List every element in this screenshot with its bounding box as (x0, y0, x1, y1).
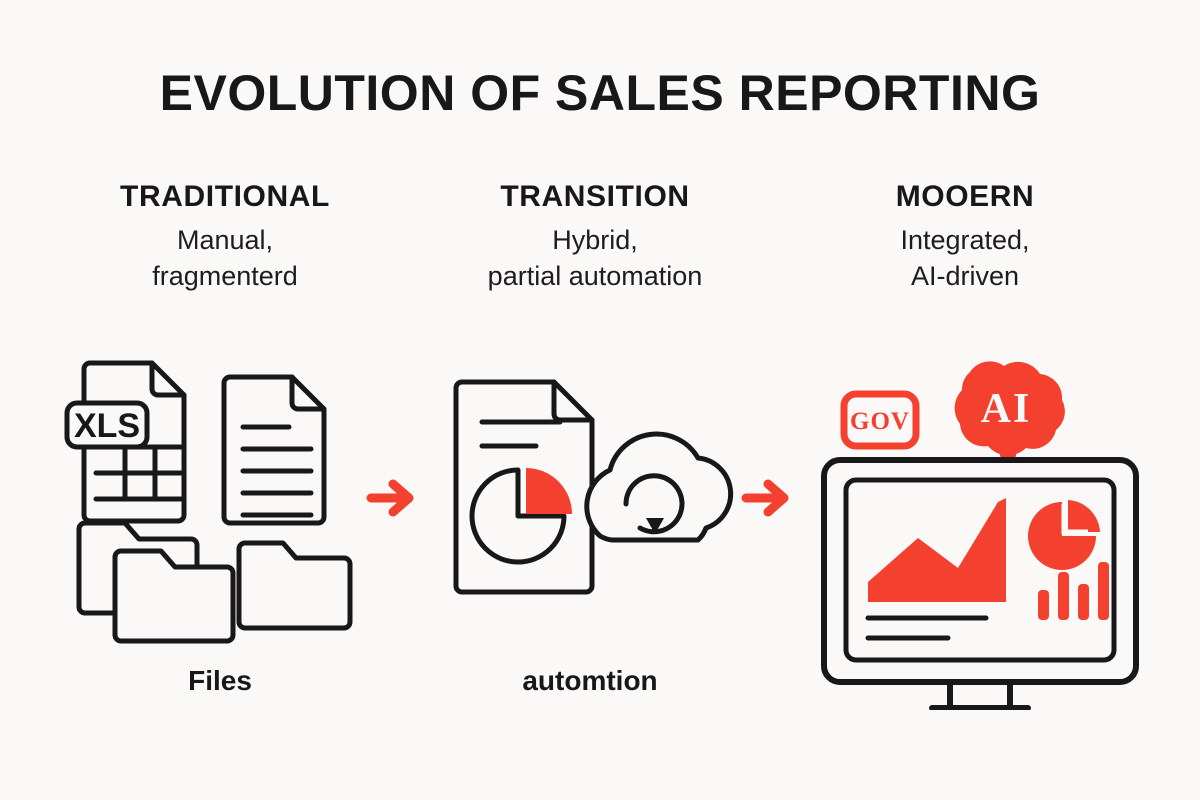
stage-subtitle-traditional: Manual, fragmenterd (60, 223, 390, 294)
traditional-icon-group: XLS (55, 355, 355, 645)
folder-stack-icon (79, 523, 233, 641)
ai-badge-label: AI (981, 386, 1032, 432)
gov-badge-label: GOV (850, 408, 910, 435)
stage-subtitle-transition: Hybrid, partial automation (430, 223, 760, 294)
stage-subtitle-line-1: Hybrid, (430, 223, 760, 259)
document-icon (224, 377, 324, 523)
stage-subtitle-line-1: Manual, (60, 223, 390, 259)
gov-badge-icon: GOV (844, 394, 916, 446)
stage-subtitle-line-1: Integrated, (800, 223, 1130, 259)
stage-subtitle-line-2: AI-driven (800, 259, 1130, 295)
stage-heading-transition: TRANSITION (430, 180, 760, 213)
stage-caption-traditional: Files (55, 665, 385, 697)
infographic-canvas: EVOLUTION OF SALES REPORTING TRADITIONAL… (0, 0, 1200, 800)
folder-icon (239, 543, 350, 628)
stage-column-transition: TRANSITION Hybrid, partial automation (430, 180, 760, 294)
xls-badge-label: XLS (74, 407, 140, 445)
stage-caption-transition: automtion (425, 665, 755, 697)
stage-heading-modern: MOOERN (800, 180, 1130, 213)
stage-column-traditional: TRADITIONAL Manual, fragmenterd (60, 180, 390, 294)
stage-heading-traditional: TRADITIONAL (60, 180, 390, 213)
transition-icon-group (440, 370, 740, 610)
page-title: EVOLUTION OF SALES REPORTING (0, 64, 1200, 122)
stage-column-modern: MOOERN Integrated, AI-driven (800, 180, 1130, 294)
modern-icon-group: GOV AI (810, 350, 1150, 710)
arrow-transition-to-modern-icon (740, 468, 800, 528)
stage-subtitle-line-2: fragmenterd (60, 259, 390, 295)
stage-subtitle-modern: Integrated, AI-driven (800, 223, 1130, 294)
arrow-traditional-to-transition-icon (365, 468, 425, 528)
monitor-stand (932, 682, 1028, 710)
monitor-dashboard-icon (824, 460, 1136, 710)
stage-subtitle-line-2: partial automation (430, 259, 760, 295)
